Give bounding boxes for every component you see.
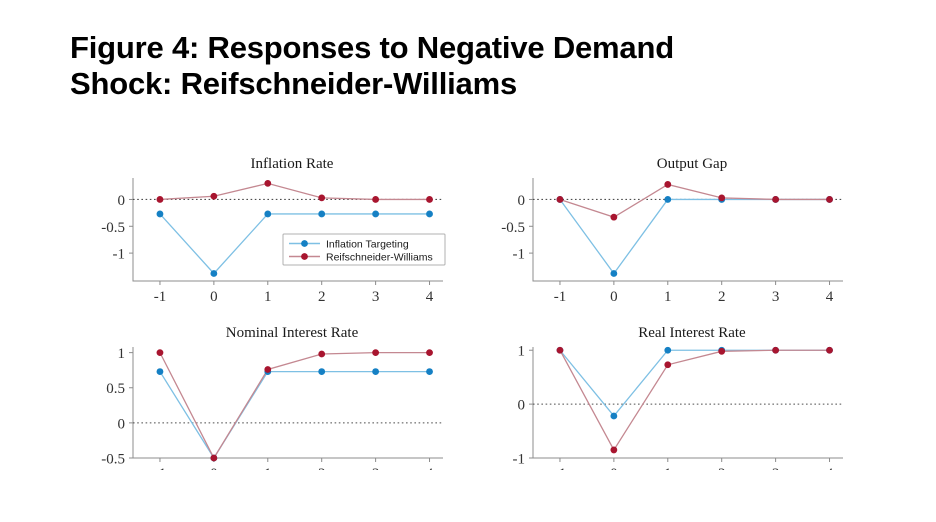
data-point-reifschneider-williams [826,196,832,202]
chart-panel-real-interest-rate: Real Interest Rate10-1-101234 [496,322,862,470]
page-title-line-1: Figure 4: Responses to Negative Demand [70,30,870,66]
x-tick-label: 1 [664,466,672,470]
data-point-reifschneider-williams [157,350,163,356]
data-point-reifschneider-williams [773,196,779,202]
data-point-reifschneider-williams [773,347,779,353]
x-tick-label: 0 [210,466,218,470]
data-point-reifschneider-williams [319,195,325,201]
data-point-inflation-targeting [157,368,163,374]
data-point-reifschneider-williams [211,455,217,461]
data-point-inflation-targeting [373,368,379,374]
y-tick-label: -1 [113,247,126,263]
x-tick-label: 4 [426,289,434,305]
data-point-reifschneider-williams [265,366,271,372]
x-tick-label: 2 [718,466,726,470]
legend-marker-swatch [301,240,307,246]
x-tick-label: 4 [826,289,834,305]
data-point-inflation-targeting [373,211,379,217]
series-line-reifschneider-williams [560,184,830,217]
data-point-inflation-targeting [611,413,617,419]
series-line-inflation-targeting [160,372,430,458]
y-tick-label: 0 [518,193,526,209]
x-tick-label: 3 [372,466,380,470]
data-point-reifschneider-williams [719,348,725,354]
chart-title-inflation-rate: Inflation Rate [251,156,334,172]
axis-spines [533,178,843,281]
data-point-inflation-targeting [157,211,163,217]
x-tick-label: 1 [264,289,272,305]
x-tick-label: 4 [426,466,434,470]
chart-panel-output-gap: Output Gap0-0.5-1-101234 [496,148,862,308]
data-point-inflation-targeting [665,347,671,353]
x-tick-label: 3 [772,466,780,470]
data-point-reifschneider-williams [373,196,379,202]
y-tick-label: 0.5 [106,381,125,397]
y-tick-label: 0 [518,398,526,414]
chart-title-output-gap: Output Gap [657,156,727,172]
data-point-inflation-targeting [426,211,432,217]
y-tick-label: -1 [513,452,526,468]
data-point-reifschneider-williams [265,180,271,186]
chart-title-real-interest-rate: Real Interest Rate [638,325,746,341]
legend-marker-swatch [301,253,307,259]
x-tick-label: 3 [772,289,780,305]
chart-output-gap: Output Gap0-0.5-1-101234 [496,148,862,308]
data-point-reifschneider-williams [319,351,325,357]
slide-canvas: Figure 4: Responses to Negative Demand S… [0,0,936,522]
chart-real-interest-rate: Real Interest Rate10-1-101234 [496,322,862,470]
y-tick-label: -0.5 [101,452,125,468]
x-tick-label: 2 [318,289,326,305]
data-point-reifschneider-williams [665,181,671,187]
y-tick-label: -1 [513,247,526,263]
data-point-reifschneider-williams [373,350,379,356]
x-tick-label: -1 [154,289,167,305]
series-line-reifschneider-williams [160,183,430,199]
legend-label: Reifschneider-Williams [326,252,433,264]
series-line-inflation-targeting [560,199,830,273]
data-point-reifschneider-williams [157,196,163,202]
page-title: Figure 4: Responses to Negative Demand S… [70,30,870,102]
y-tick-label: 1 [518,344,526,360]
x-tick-label: 2 [318,466,326,470]
axis-spines [133,178,443,281]
x-tick-label: 1 [264,466,272,470]
data-point-reifschneider-williams [611,447,617,453]
data-point-inflation-targeting [426,368,432,374]
chart-panel-inflation-rate: Inflation Rate0-0.5-1-101234Inflation Ta… [96,148,462,308]
chart-legend: Inflation TargetingReifschneider-William… [283,234,445,265]
series-line-reifschneider-williams [160,353,430,458]
data-point-reifschneider-williams [826,347,832,353]
data-point-reifschneider-williams [557,347,563,353]
x-tick-label: 0 [610,289,618,305]
x-tick-label: -1 [154,466,167,470]
series-line-inflation-targeting [560,350,830,416]
x-tick-label: 0 [610,466,618,470]
page-title-line-2: Shock: Reifschneider-Williams [70,66,870,102]
chart-panel-nominal-interest-rate: Nominal Interest Rate10.50-0.5-101234 [96,322,462,470]
chart-title-nominal-interest-rate: Nominal Interest Rate [226,325,359,341]
x-tick-label: 1 [664,289,672,305]
y-tick-label: -0.5 [101,220,125,236]
x-tick-label: 3 [372,289,380,305]
data-point-reifschneider-williams [719,195,725,201]
x-tick-label: -1 [554,289,567,305]
x-tick-label: -1 [554,466,567,470]
x-tick-label: 2 [718,289,726,305]
legend-label: Inflation Targeting [326,239,409,251]
data-point-reifschneider-williams [211,193,217,199]
data-point-reifschneider-williams [426,350,432,356]
data-point-inflation-targeting [665,196,671,202]
data-point-inflation-targeting [319,211,325,217]
data-point-reifschneider-williams [426,196,432,202]
x-tick-label: 0 [210,289,218,305]
data-point-inflation-targeting [211,270,217,276]
data-point-reifschneider-williams [557,196,563,202]
y-tick-label: -0.5 [501,220,525,236]
data-point-inflation-targeting [611,270,617,276]
x-tick-label: 4 [826,466,834,470]
data-point-inflation-targeting [319,368,325,374]
y-tick-label: 1 [118,346,126,362]
data-point-reifschneider-williams [665,362,671,368]
chart-nominal-interest-rate: Nominal Interest Rate10.50-0.5-101234 [96,322,462,470]
y-tick-label: 0 [118,416,126,432]
data-point-reifschneider-williams [611,214,617,220]
y-tick-label: 0 [118,193,126,209]
axis-spines [533,347,843,458]
data-point-inflation-targeting [265,211,271,217]
chart-inflation-rate: Inflation Rate0-0.5-1-101234Inflation Ta… [96,148,462,308]
